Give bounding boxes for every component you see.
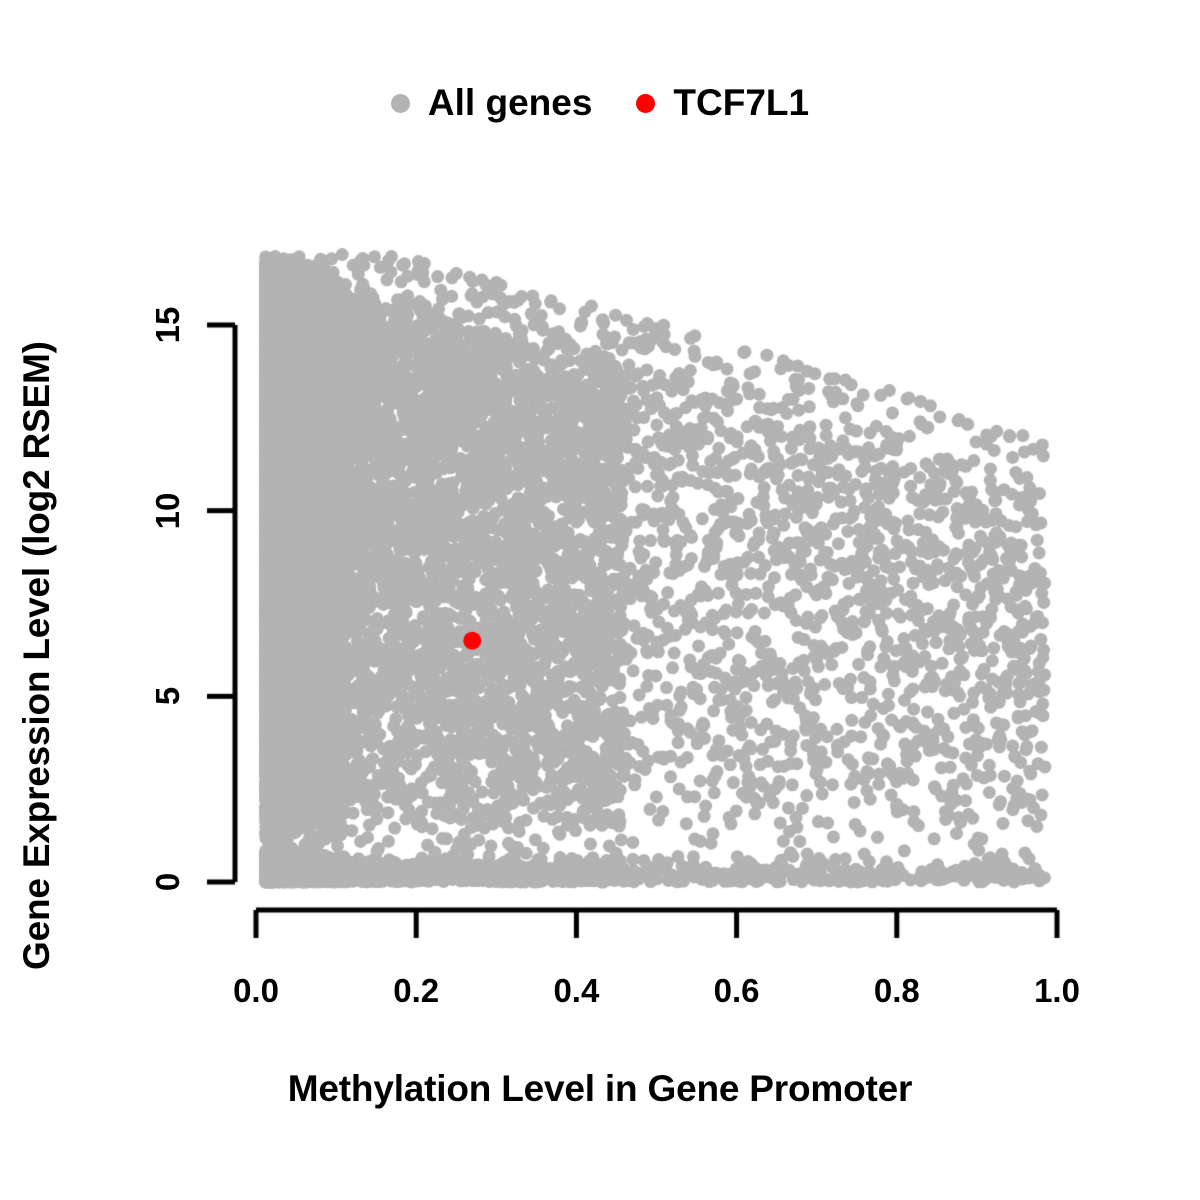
y-tick-label: 15	[149, 307, 187, 344]
x-tick-label: 0.2	[393, 972, 439, 1010]
y-axis-title: Gene Expression Level (log2 RSEM)	[16, 341, 58, 970]
scatter-plot-canvas	[0, 0, 1200, 1200]
legend-entry-all-genes: All genes	[391, 82, 593, 124]
y-tick-label: 5	[149, 687, 187, 705]
legend-label-tcf7l1: TCF7L1	[673, 82, 809, 124]
x-tick-label: 0.4	[553, 972, 599, 1010]
legend-marker-tcf7l1	[636, 94, 655, 113]
legend-label-all-genes: All genes	[428, 82, 593, 124]
legend-marker-all-genes	[391, 94, 410, 113]
scatter-plot-figure: All genes TCF7L1 051015 0.00.20.40.60.81…	[0, 0, 1200, 1200]
y-tick-label: 0	[149, 873, 187, 891]
x-tick-label: 0.6	[714, 972, 760, 1010]
y-tick-label: 10	[149, 492, 187, 529]
x-tick-label: 0.8	[874, 972, 920, 1010]
x-axis-title: Methylation Level in Gene Promoter	[0, 1068, 1200, 1110]
chart-legend: All genes TCF7L1	[0, 82, 1200, 124]
legend-entry-tcf7l1: TCF7L1	[636, 82, 809, 124]
x-tick-label: 1.0	[1034, 972, 1080, 1010]
x-tick-label: 0.0	[233, 972, 279, 1010]
